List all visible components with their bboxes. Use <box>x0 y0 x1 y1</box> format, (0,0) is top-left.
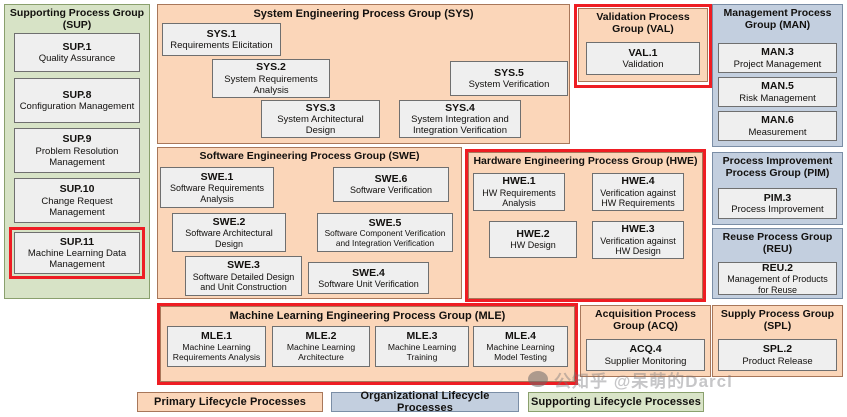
process-code: MAN.5 <box>761 80 794 92</box>
process-acq-4[interactable]: ACQ.4 Supplier Monitoring <box>586 339 705 371</box>
process-name: Measurement <box>748 127 806 138</box>
process-code: REU.2 <box>762 262 793 274</box>
process-code: SYS.3 <box>306 102 336 114</box>
process-code: SWE.2 <box>213 216 246 228</box>
process-name: Project Management <box>734 59 822 70</box>
process-sup-11[interactable]: SUP.11 Machine Learning Data Management <box>14 232 140 274</box>
process-pim-3[interactable]: PIM.3 Process Improvement <box>718 188 837 219</box>
process-name: Software Requirements Analysis <box>163 183 271 204</box>
process-code: HWE.3 <box>621 223 654 235</box>
process-name: Product Release <box>742 356 812 367</box>
process-name: Process Improvement <box>731 204 823 215</box>
process-code: SWE.6 <box>375 173 408 185</box>
process-code: ACQ.4 <box>629 343 661 355</box>
group-acq-title: Acquisition Process Group (ACQ) <box>581 306 710 335</box>
process-swe-1[interactable]: SWE.1 Software Requirements Analysis <box>160 167 274 208</box>
legend-item-supporting: Supporting Lifecycle Processes <box>528 392 704 412</box>
process-sys-1[interactable]: SYS.1 Requirements Elicitation <box>162 23 281 56</box>
process-code: MAN.6 <box>761 114 794 126</box>
process-code: HWE.1 <box>502 175 535 187</box>
process-code: SYS.1 <box>207 28 237 40</box>
group-spl-title: Supply Process Group (SPL) <box>713 306 842 335</box>
process-swe-4[interactable]: SWE.4 Software Unit Verification <box>308 262 429 294</box>
process-hwe-2[interactable]: HWE.2 HW Design <box>489 221 577 258</box>
process-man-6[interactable]: MAN.6 Measurement <box>718 111 837 141</box>
process-name: Quality Assurance <box>39 53 116 64</box>
process-val-1[interactable]: VAL.1 Validation <box>586 42 700 75</box>
process-spl-2[interactable]: SPL.2 Product Release <box>718 339 837 371</box>
process-swe-6[interactable]: SWE.6 Software Verification <box>333 167 449 202</box>
process-hwe-3[interactable]: HWE.3 Verification against HW Design <box>592 221 684 259</box>
process-code: SWE.4 <box>352 267 385 279</box>
process-code: SYS.4 <box>445 102 475 114</box>
process-code: SUP.1 <box>63 41 92 53</box>
process-mle-2[interactable]: MLE.2 Machine Learning Architecture <box>272 326 370 367</box>
group-sup-title: Supporting Process Group (SUP) <box>5 5 149 34</box>
diagram-canvas: Supporting Process Group (SUP) SUP.1 Qua… <box>0 0 847 417</box>
process-hwe-4[interactable]: HWE.4 Verification against HW Requiremen… <box>592 173 684 211</box>
process-code: VAL.1 <box>629 47 658 59</box>
process-sup-1[interactable]: SUP.1 Quality Assurance <box>14 33 140 72</box>
process-name: HW Design <box>510 240 556 250</box>
process-name: Machine Learning Data Management <box>17 248 137 270</box>
process-mle-1[interactable]: MLE.1 Machine Learning Requirements Anal… <box>167 326 266 367</box>
group-swe-title: Software Engineering Process Group (SWE) <box>158 148 461 165</box>
process-name: Supplier Monitoring <box>605 356 687 367</box>
process-code: SYS.2 <box>256 61 286 73</box>
process-code: SWE.1 <box>201 171 234 183</box>
process-name: Verification against HW Requirements <box>595 188 681 209</box>
process-code: HWE.2 <box>516 228 549 240</box>
process-sup-8[interactable]: SUP.8 Configuration Management <box>14 78 140 123</box>
process-code: MLE.2 <box>306 330 337 342</box>
process-hwe-1[interactable]: HWE.1 HW Requirements Analysis <box>473 173 565 211</box>
group-man-title: Management Process Group (MAN) <box>713 5 842 34</box>
process-code: MAN.3 <box>761 46 794 58</box>
process-code: SPL.2 <box>763 343 792 355</box>
process-reu-2[interactable]: REU.2 Management of Products for Reuse <box>718 262 837 295</box>
group-pim-title: Process Improvement Process Group (PIM) <box>713 153 842 182</box>
process-name: Risk Management <box>739 93 816 104</box>
process-name: Validation <box>622 59 663 70</box>
group-mle-title: Machine Learning Engineering Process Gro… <box>161 307 574 324</box>
process-swe-2[interactable]: SWE.2 Software Architectural Design <box>172 213 286 252</box>
process-code: MLE.1 <box>201 330 232 342</box>
process-code: PIM.3 <box>764 192 791 204</box>
process-name: Software Architectural Design <box>175 228 283 249</box>
process-mle-3[interactable]: MLE.3 Machine Learning Training <box>375 326 469 367</box>
process-code: SWE.3 <box>227 259 260 271</box>
process-sup-10[interactable]: SUP.10 Change Request Management <box>14 178 140 223</box>
process-name: Machine Learning Architecture <box>275 343 367 363</box>
group-hwe-title: Hardware Engineering Process Group (HWE) <box>469 153 702 170</box>
process-name: Machine Learning Requirements Analysis <box>170 343 263 363</box>
process-man-5[interactable]: MAN.5 Risk Management <box>718 77 837 107</box>
process-name: System Requirements Analysis <box>215 74 327 96</box>
process-name: Machine Learning Training <box>378 343 466 363</box>
group-sys-title: System Engineering Process Group (SYS) <box>158 5 569 22</box>
process-code: MLE.4 <box>505 330 536 342</box>
process-name: Software Verification <box>350 185 432 195</box>
process-name: Problem Resolution Management <box>17 146 137 168</box>
process-name: Configuration Management <box>20 101 135 112</box>
process-code: SUP.8 <box>63 89 92 101</box>
process-name: Change Request Management <box>17 196 137 218</box>
process-name: Requirements Elicitation <box>170 40 272 51</box>
process-mle-4[interactable]: MLE.4 Machine Learning Model Testing <box>473 326 568 367</box>
process-code: MLE.3 <box>407 330 438 342</box>
process-name: Software Unit Verification <box>318 279 419 289</box>
process-name: System Integration and Integration Verif… <box>402 114 518 136</box>
process-name: System Verification <box>469 79 550 90</box>
process-sys-3[interactable]: SYS.3 System Architectural Design <box>261 100 380 138</box>
process-swe-5[interactable]: SWE.5 Software Component Verification an… <box>317 213 453 252</box>
process-code: SUP.11 <box>60 236 94 248</box>
process-swe-3[interactable]: SWE.3 Software Detailed Design and Unit … <box>185 256 302 296</box>
legend-label: Primary Lifecycle Processes <box>154 396 306 408</box>
process-sys-4[interactable]: SYS.4 System Integration and Integration… <box>399 100 521 138</box>
process-name: System Architectural Design <box>264 114 377 136</box>
process-code: HWE.4 <box>621 175 654 187</box>
process-name: Software Component Verification and Inte… <box>320 229 450 248</box>
legend-item-primary: Primary Lifecycle Processes <box>137 392 323 412</box>
process-name: Verification against HW Design <box>595 236 681 257</box>
group-reu-title: Reuse Process Group (REU) <box>713 229 842 258</box>
legend-label: Organizational Lifecycle Processes <box>332 390 518 414</box>
process-sup-9[interactable]: SUP.9 Problem Resolution Management <box>14 128 140 173</box>
process-code: SYS.5 <box>494 67 524 79</box>
process-man-3[interactable]: MAN.3 Project Management <box>718 43 837 73</box>
process-name: Management of Products for Reuse <box>721 274 834 295</box>
process-sys-5[interactable]: SYS.5 System Verification <box>450 61 568 96</box>
process-name: HW Requirements Analysis <box>476 188 562 209</box>
process-code: SUP.10 <box>60 183 95 195</box>
process-name: Machine Learning Model Testing <box>476 343 565 363</box>
process-name: Software Detailed Design and Unit Constr… <box>188 272 299 293</box>
legend-label: Supporting Lifecycle Processes <box>531 396 701 408</box>
process-sys-2[interactable]: SYS.2 System Requirements Analysis <box>212 59 330 98</box>
group-val-title: Validation Process Group (VAL) <box>579 9 707 38</box>
process-code: SUP.9 <box>63 133 92 145</box>
legend-item-organizational: Organizational Lifecycle Processes <box>331 392 519 412</box>
